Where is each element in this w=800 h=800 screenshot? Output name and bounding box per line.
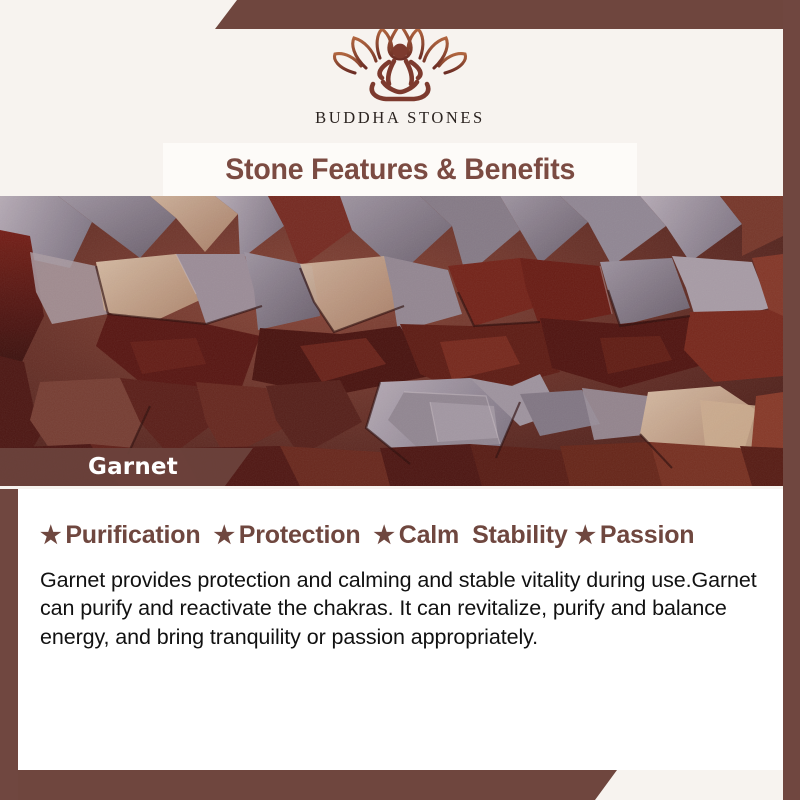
- title-banner: Stone Features & Benefits: [163, 143, 637, 196]
- benefit-label: Stability: [472, 521, 567, 550]
- star-icon: ★: [40, 524, 61, 548]
- frame-top-bar: [215, 0, 800, 29]
- benefit-label: Protection: [239, 521, 361, 550]
- frame-bottom-bar: [0, 770, 617, 800]
- lotus-meditation-figure-icon: [325, 18, 475, 104]
- frame-right-bar: [783, 0, 800, 800]
- benefit-item-protection: ★ Protection: [213, 521, 360, 550]
- stone-name-banner: Garnet: [0, 448, 253, 486]
- benefit-label: Calm: [399, 521, 459, 550]
- star-icon: ★: [213, 524, 234, 548]
- benefit-label: Purification: [65, 521, 200, 550]
- stone-info-card: BUDDHA STONES Stone Features & Benefits: [0, 0, 800, 800]
- star-icon: ★: [373, 524, 394, 548]
- benefits-list: ★ Purification ★ Protection ★ Calm Stabi…: [40, 521, 761, 550]
- benefit-label: Passion: [600, 521, 694, 550]
- brand-name: BUDDHA STONES: [315, 108, 485, 128]
- benefit-item-stability: Stability: [472, 521, 567, 550]
- content-panel: ★ Purification ★ Protection ★ Calm Stabi…: [18, 489, 783, 770]
- brand-logo: BUDDHA STONES: [0, 18, 800, 128]
- benefit-item-purification: ★ Purification: [40, 521, 200, 550]
- stone-name-label: Garnet: [88, 454, 178, 480]
- page-title: Stone Features & Benefits: [225, 153, 575, 187]
- stone-photo: Garnet: [0, 196, 783, 486]
- description-text: Garnet provides protection and calming a…: [40, 566, 762, 651]
- benefit-item-calm: ★ Calm: [373, 521, 459, 550]
- benefit-item-passion: ★ Passion: [575, 521, 695, 550]
- garnet-mineral-cluster-photo: [0, 196, 783, 486]
- star-icon: ★: [575, 524, 596, 548]
- frame-left-bar: [0, 489, 18, 800]
